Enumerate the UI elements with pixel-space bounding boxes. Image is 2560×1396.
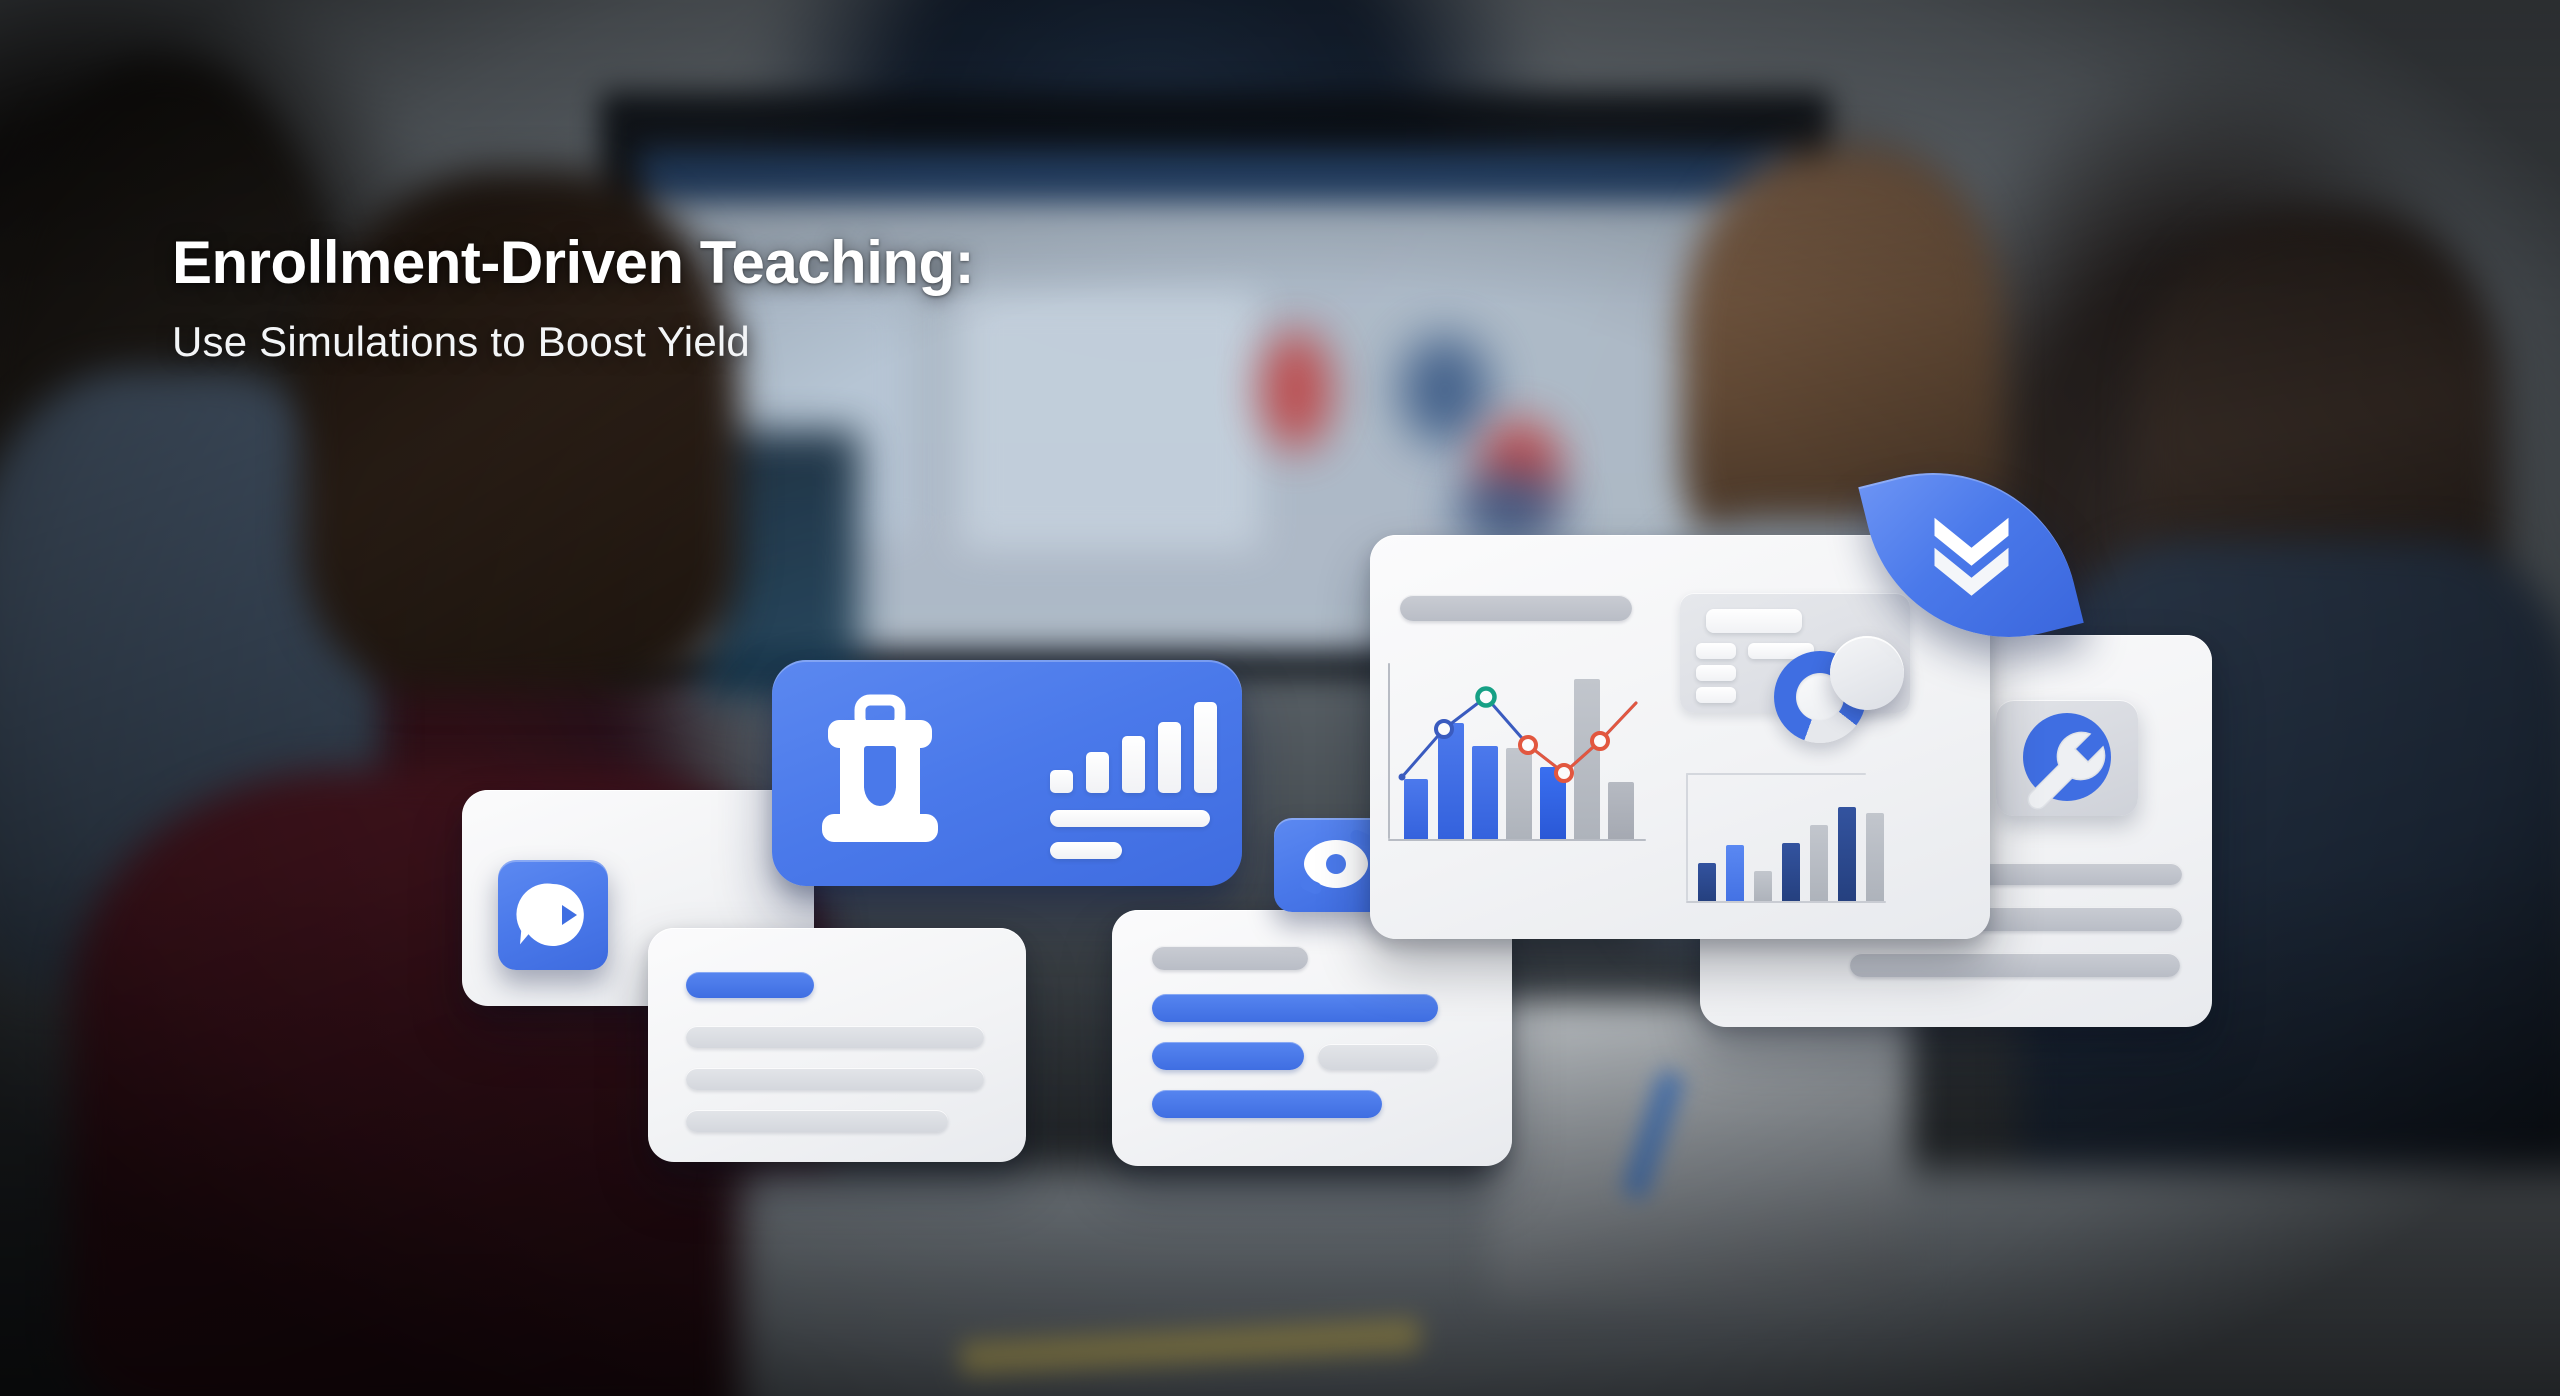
list-row xyxy=(686,1068,984,1090)
list-card-left[interactable] xyxy=(648,928,1026,1162)
wrench-badge[interactable] xyxy=(1996,700,2138,816)
secondary-bar-chart xyxy=(1692,797,1888,901)
chevron-down-icon xyxy=(1918,496,2024,602)
card-header-bar xyxy=(1400,595,1632,621)
panel-row xyxy=(1706,609,1802,633)
page-subtitle: Use Simulations to Boost Yield xyxy=(172,318,1422,366)
chart-bar xyxy=(1838,807,1856,901)
pointer-knob xyxy=(1830,636,1904,710)
list-row xyxy=(1152,946,1308,970)
wrench-icon xyxy=(2004,704,2130,814)
mini-bar xyxy=(1122,736,1145,793)
list-row xyxy=(686,1110,948,1132)
mini-bar xyxy=(1050,770,1073,793)
blue-card-text-row xyxy=(1050,810,1210,827)
mini-bar xyxy=(1194,702,1217,793)
chart-bar xyxy=(1698,863,1716,901)
list-row xyxy=(1318,1044,1438,1070)
flask-icon xyxy=(816,694,944,850)
list-row-highlight xyxy=(686,972,814,998)
list-row-highlight xyxy=(1152,1042,1304,1070)
list-row-highlight xyxy=(1152,994,1438,1022)
floating-ui-cluster xyxy=(0,0,2560,1396)
chart-bar xyxy=(1810,825,1828,901)
combo-bar-line-chart xyxy=(1388,663,1650,855)
chart-y-axis xyxy=(1686,773,1688,901)
list-row xyxy=(686,1026,984,1048)
chart-x-axis xyxy=(1686,901,1886,903)
list-card-center[interactable] xyxy=(1112,910,1512,1166)
list-row-highlight xyxy=(1152,1090,1382,1118)
headline-block: Enrollment-Driven Teaching: Use Simulati… xyxy=(172,232,1422,366)
chart-bar xyxy=(1726,845,1744,901)
chat-arrow-icon xyxy=(498,860,608,970)
hero-banner: Enrollment-Driven Teaching: Use Simulati… xyxy=(0,0,2560,1396)
chart-line-layer xyxy=(1388,663,1650,841)
list-row xyxy=(1850,953,2180,977)
panel-row xyxy=(1696,665,1736,681)
panel-row xyxy=(1696,643,1736,659)
chat-arrow-badge[interactable] xyxy=(498,860,608,970)
page-title: Enrollment-Driven Teaching: xyxy=(172,232,1422,294)
chart-bar xyxy=(1754,871,1772,901)
divider xyxy=(1686,773,1866,775)
chart-bar xyxy=(1866,813,1884,901)
panel-row xyxy=(1696,687,1736,703)
chart-bar xyxy=(1782,843,1800,901)
mini-bar xyxy=(1086,752,1109,793)
blue-metric-card[interactable] xyxy=(772,660,1242,886)
mini-bar xyxy=(1158,722,1181,793)
blue-card-text-row xyxy=(1050,842,1122,859)
eye-scan-icon xyxy=(1296,830,1376,900)
analytics-dashboard-card[interactable] xyxy=(1370,535,1990,939)
